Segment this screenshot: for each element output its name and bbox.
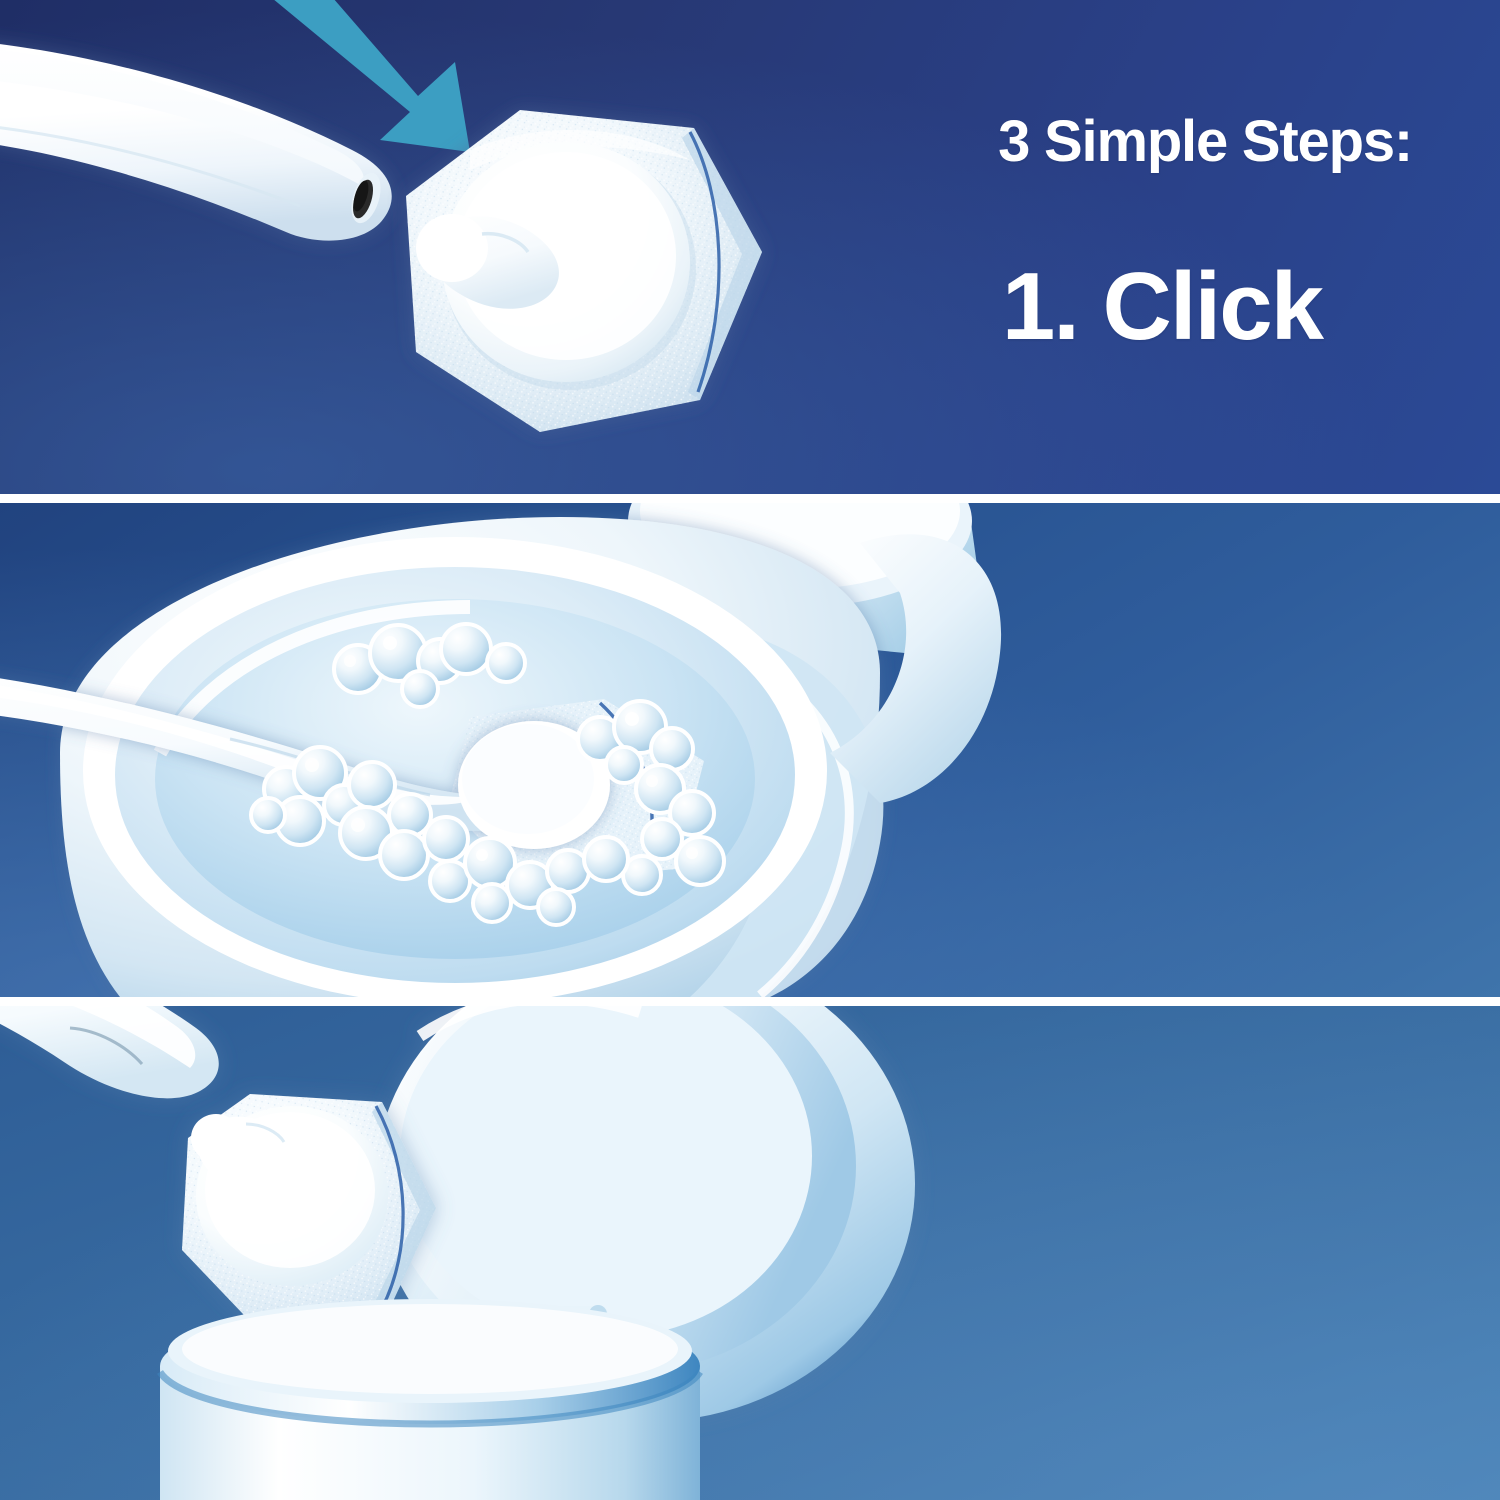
wand-handle: [0, 36, 392, 241]
panel-step-1-click: 3 Simple Steps: 1. Click: [0, 0, 1500, 494]
panel-divider-1: [0, 494, 1500, 503]
step-1-label: 1. Click: [1002, 252, 1322, 362]
panel-divider-2: [0, 997, 1500, 1006]
panel-step-2-swish: 2. Swish: [0, 503, 1500, 997]
panel-2-illustration: [0, 503, 1500, 997]
panel-step-3-toss: 3. Toss: [0, 1006, 1500, 1500]
wand-tip: [0, 1006, 219, 1098]
toilet-rim: [83, 537, 827, 997]
instructional-graphic: 3 Simple Steps: 1. Click: [0, 0, 1500, 1500]
panel-1-illustration: [0, 0, 1500, 494]
trash-can: [160, 1299, 700, 1500]
panel-3-illustration: [0, 1006, 1500, 1500]
page-title: 3 Simple Steps:: [998, 108, 1412, 175]
